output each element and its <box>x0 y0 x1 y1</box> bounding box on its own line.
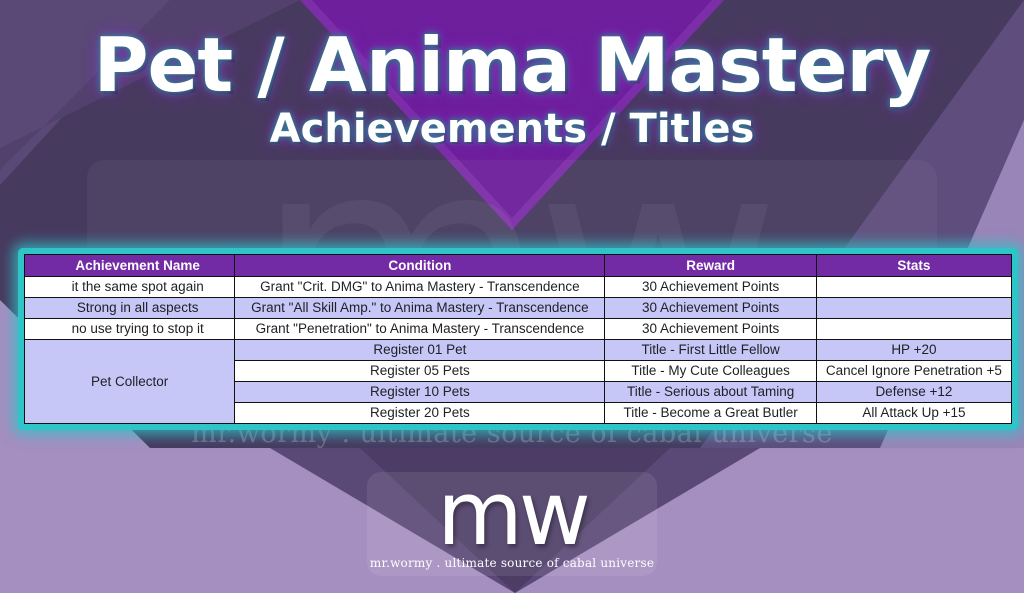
cell-condition: Register 10 Pets <box>235 382 605 403</box>
cell-reward: 30 Achievement Points <box>605 298 816 319</box>
cell-reward: Title - My Cute Colleagues <box>605 361 816 382</box>
cell-stats: Cancel Ignore Penetration +5 <box>816 361 1011 382</box>
achievements-table: Achievement Name Condition Reward Stats … <box>24 254 1012 424</box>
cell-achievement-name: Strong in all aspects <box>25 298 235 319</box>
cell-stats <box>816 319 1011 340</box>
page-title: Pet / Anima Mastery <box>0 0 1024 104</box>
cell-condition: Register 01 Pet <box>235 340 605 361</box>
table-body: it the same spot again Grant "Crit. DMG"… <box>25 277 1012 424</box>
table-row: no use trying to stop it Grant "Penetrat… <box>25 319 1012 340</box>
column-header-condition: Condition <box>235 255 605 277</box>
cell-condition: Grant "All Skill Amp." to Anima Mastery … <box>235 298 605 319</box>
cell-reward: Title - Become a Great Butler <box>605 403 816 424</box>
cell-reward: Title - Serious about Taming <box>605 382 816 403</box>
cell-reward: 30 Achievement Points <box>605 319 816 340</box>
cell-reward: Title - First Little Fellow <box>605 340 816 361</box>
column-header-achievement-name: Achievement Name <box>25 255 235 277</box>
cell-condition: Grant "Crit. DMG" to Anima Mastery - Tra… <box>235 277 605 298</box>
table-header-row: Achievement Name Condition Reward Stats <box>25 255 1012 277</box>
cell-achievement-name: it the same spot again <box>25 277 235 298</box>
table-row: Strong in all aspects Grant "All Skill A… <box>25 298 1012 319</box>
cell-achievement-name: no use trying to stop it <box>25 319 235 340</box>
cell-stats: Defense +12 <box>816 382 1011 403</box>
cell-condition: Register 05 Pets <box>235 361 605 382</box>
page-header: Pet / Anima Mastery Achievements / Title… <box>0 0 1024 150</box>
achievements-table-container: Achievement Name Condition Reward Stats … <box>18 248 1018 430</box>
table-row: Pet Collector Register 01 Pet Title - Fi… <box>25 340 1012 361</box>
cell-stats: All Attack Up +15 <box>816 403 1011 424</box>
page-subtitle: Achievements / Titles <box>0 104 1024 150</box>
brand-logo: mw mr.wormy . ultimate source of cabal u… <box>367 472 657 576</box>
cell-achievement-name-merged: Pet Collector <box>25 340 235 424</box>
cell-condition: Grant "Penetration" to Anima Mastery - T… <box>235 319 605 340</box>
cell-reward: 30 Achievement Points <box>605 277 816 298</box>
column-header-stats: Stats <box>816 255 1011 277</box>
cell-stats <box>816 277 1011 298</box>
logo-mark-text: mw <box>367 472 657 554</box>
logo-tagline: mr.wormy . ultimate source of cabal univ… <box>367 554 657 570</box>
cell-stats <box>816 298 1011 319</box>
cell-stats: HP +20 <box>816 340 1011 361</box>
column-header-reward: Reward <box>605 255 816 277</box>
cell-condition: Register 20 Pets <box>235 403 605 424</box>
table-row: it the same spot again Grant "Crit. DMG"… <box>25 277 1012 298</box>
